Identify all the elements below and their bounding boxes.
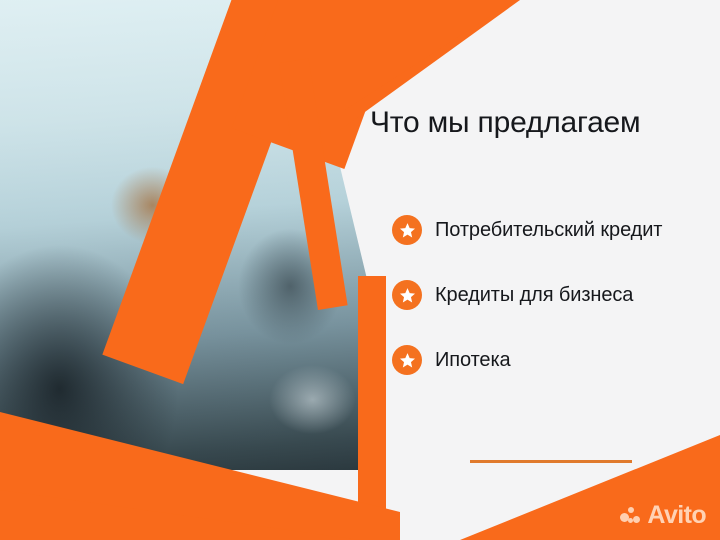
avito-dots-icon [620,507,642,525]
list-item-label: Потребительский кредит [435,219,662,242]
divider [470,460,632,463]
avito-brand-label: Avito [647,503,706,528]
star-icon [392,215,422,245]
list-item-label: Кредиты для бизнеса [435,284,633,307]
list-item-label: Ипотека [435,349,511,372]
content-panel: Что мы предлагаем Потребительский кредит… [386,0,720,540]
page-title: Что мы предлагаем [370,106,720,140]
star-icon [392,280,422,310]
orange-vertical-bar [358,276,386,540]
list-item: Потребительский кредит [392,212,720,248]
avito-watermark: Avito [620,503,706,528]
list-item: Кредиты для бизнеса [392,277,720,313]
list-item: Ипотека [392,342,720,378]
promo-banner: Что мы предлагаем Потребительский кредит… [0,0,720,540]
star-icon [392,345,422,375]
offer-list: Потребительский кредит Кредиты для бизне… [392,212,720,407]
